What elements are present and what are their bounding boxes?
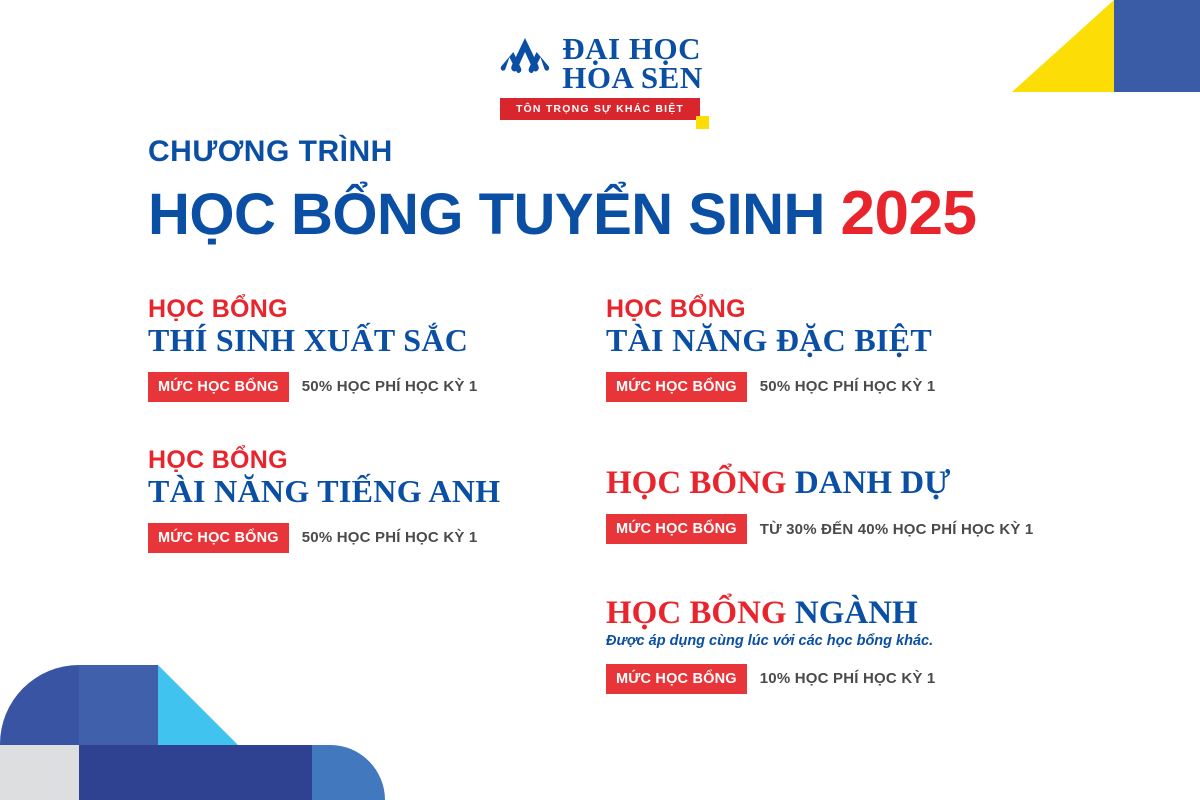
- scholarship-card-honor: HỌC BỔNG DANH DỰ MỨC HỌC BỔNG TỪ 30% ĐẾN…: [606, 465, 1033, 544]
- scholarship-name: TÀI NĂNG ĐẶC BIỆT: [606, 323, 935, 359]
- rate-value: 50% HỌC PHÍ HỌC KỲ 1: [302, 378, 478, 395]
- scholarship-card-major: HỌC BỔNG NGÀNH Được áp dụng cùng lúc với…: [606, 595, 935, 694]
- scholarship-title-inline: HỌC BỔNG DANH DỰ: [606, 465, 1033, 501]
- rate-badge: MỨC HỌC BỔNG: [606, 372, 747, 402]
- logo-row: ĐẠI HỌC HOA SEN: [497, 34, 702, 93]
- scholarship-name: DANH DỰ: [795, 465, 951, 501]
- logo-name-line2: HOA SEN: [562, 63, 702, 92]
- headline-block: CHƯƠNG TRÌNH HỌC BỔNG TUYỂN SINH 2025: [148, 137, 976, 245]
- page-title-year: 2025: [841, 179, 977, 248]
- decor-dark-band: [79, 745, 312, 800]
- decor-quarter-circle-top-left: [0, 665, 79, 745]
- logo-wordmark: ĐẠI HỌC HOA SEN: [562, 34, 702, 93]
- rate-value: 10% HỌC PHÍ HỌC KỲ 1: [760, 670, 936, 687]
- scholarship-name: TÀI NĂNG TIẾNG ANH: [148, 474, 500, 510]
- scholarship-rate-row: MỨC HỌC BỔNG TỪ 30% ĐẾN 40% HỌC PHÍ HỌC …: [606, 514, 1033, 544]
- scholarship-name: THÍ SINH XUẤT SẮC: [148, 323, 477, 359]
- logo-name-line1: ĐẠI HỌC: [562, 34, 702, 63]
- rate-value: 50% HỌC PHÍ HỌC KỲ 1: [760, 378, 936, 395]
- scholarship-title-inline: HỌC BỔNG NGÀNH: [606, 595, 935, 631]
- scholarship-rate-row: MỨC HỌC BỔNG 50% HỌC PHÍ HỌC KỲ 1: [148, 523, 500, 553]
- scholarship-rate-row: MỨC HỌC BỔNG 10% HỌC PHÍ HỌC KỲ 1: [606, 664, 935, 694]
- decor-bottom-left-group: [0, 650, 400, 800]
- rate-badge: MỨC HỌC BỔNG: [606, 514, 747, 544]
- page-title-main: HỌC BỔNG TUYỂN SINH: [148, 182, 825, 247]
- scholarship-subtitle: Được áp dụng cùng lúc với các học bổng k…: [606, 633, 935, 650]
- decor-square-mid: [79, 665, 158, 745]
- rate-value: TỪ 30% ĐẾN 40% HỌC PHÍ HỌC KỲ 1: [760, 521, 1034, 538]
- rate-value: 50% HỌC PHÍ HỌC KỲ 1: [302, 529, 478, 546]
- lotus-flame-icon: [497, 35, 553, 91]
- rate-badge: MỨC HỌC BỔNG: [148, 523, 289, 553]
- scholarship-prefix: HỌC BỔNG: [606, 595, 787, 631]
- decor-yellow-square: [696, 116, 709, 129]
- scholarship-rate-row: MỨC HỌC BỔNG 50% HỌC PHÍ HỌC KỲ 1: [148, 372, 477, 402]
- scholarship-card-excellent-candidate: HỌC BỔNG THÍ SINH XUẤT SẮC MỨC HỌC BỔNG …: [148, 296, 477, 402]
- decor-gray-square: [0, 745, 79, 800]
- scholarship-prefix: HỌC BỔNG: [606, 296, 935, 323]
- scholarship-name: NGÀNH: [795, 595, 918, 631]
- decor-cyan-triangle: [158, 665, 238, 745]
- logo-tagline: TÔN TRỌNG SỰ KHÁC BIỆT: [516, 103, 684, 115]
- decor-quarter-circle-top-right: [312, 745, 385, 800]
- scholarship-rate-row: MỨC HỌC BỔNG 50% HỌC PHÍ HỌC KỲ 1: [606, 372, 935, 402]
- logo-tagline-banner: TÔN TRỌNG SỰ KHÁC BIỆT: [500, 98, 700, 120]
- scholarship-prefix: HỌC BỔNG: [148, 447, 500, 474]
- scholarship-prefix: HỌC BỔNG: [606, 465, 787, 501]
- rate-badge: MỨC HỌC BỔNG: [148, 372, 289, 402]
- page-title: HỌC BỔNG TUYỂN SINH 2025: [148, 183, 976, 245]
- rate-badge: MỨC HỌC BỔNG: [606, 664, 747, 694]
- scholarship-card-english-talent: HỌC BỔNG TÀI NĂNG TIẾNG ANH MỨC HỌC BỔNG…: [148, 447, 500, 553]
- page-kicker: CHƯƠNG TRÌNH: [148, 137, 976, 167]
- scholarship-prefix: HỌC BỔNG: [148, 296, 477, 323]
- scholarship-card-special-talent: HỌC BỔNG TÀI NĂNG ĐẶC BIỆT MỨC HỌC BỔNG …: [606, 296, 935, 402]
- scholarship-poster: ĐẠI HỌC HOA SEN TÔN TRỌNG SỰ KHÁC BIỆT C…: [0, 0, 1200, 800]
- university-logo: ĐẠI HỌC HOA SEN TÔN TRỌNG SỰ KHÁC BIỆT: [0, 34, 1200, 120]
